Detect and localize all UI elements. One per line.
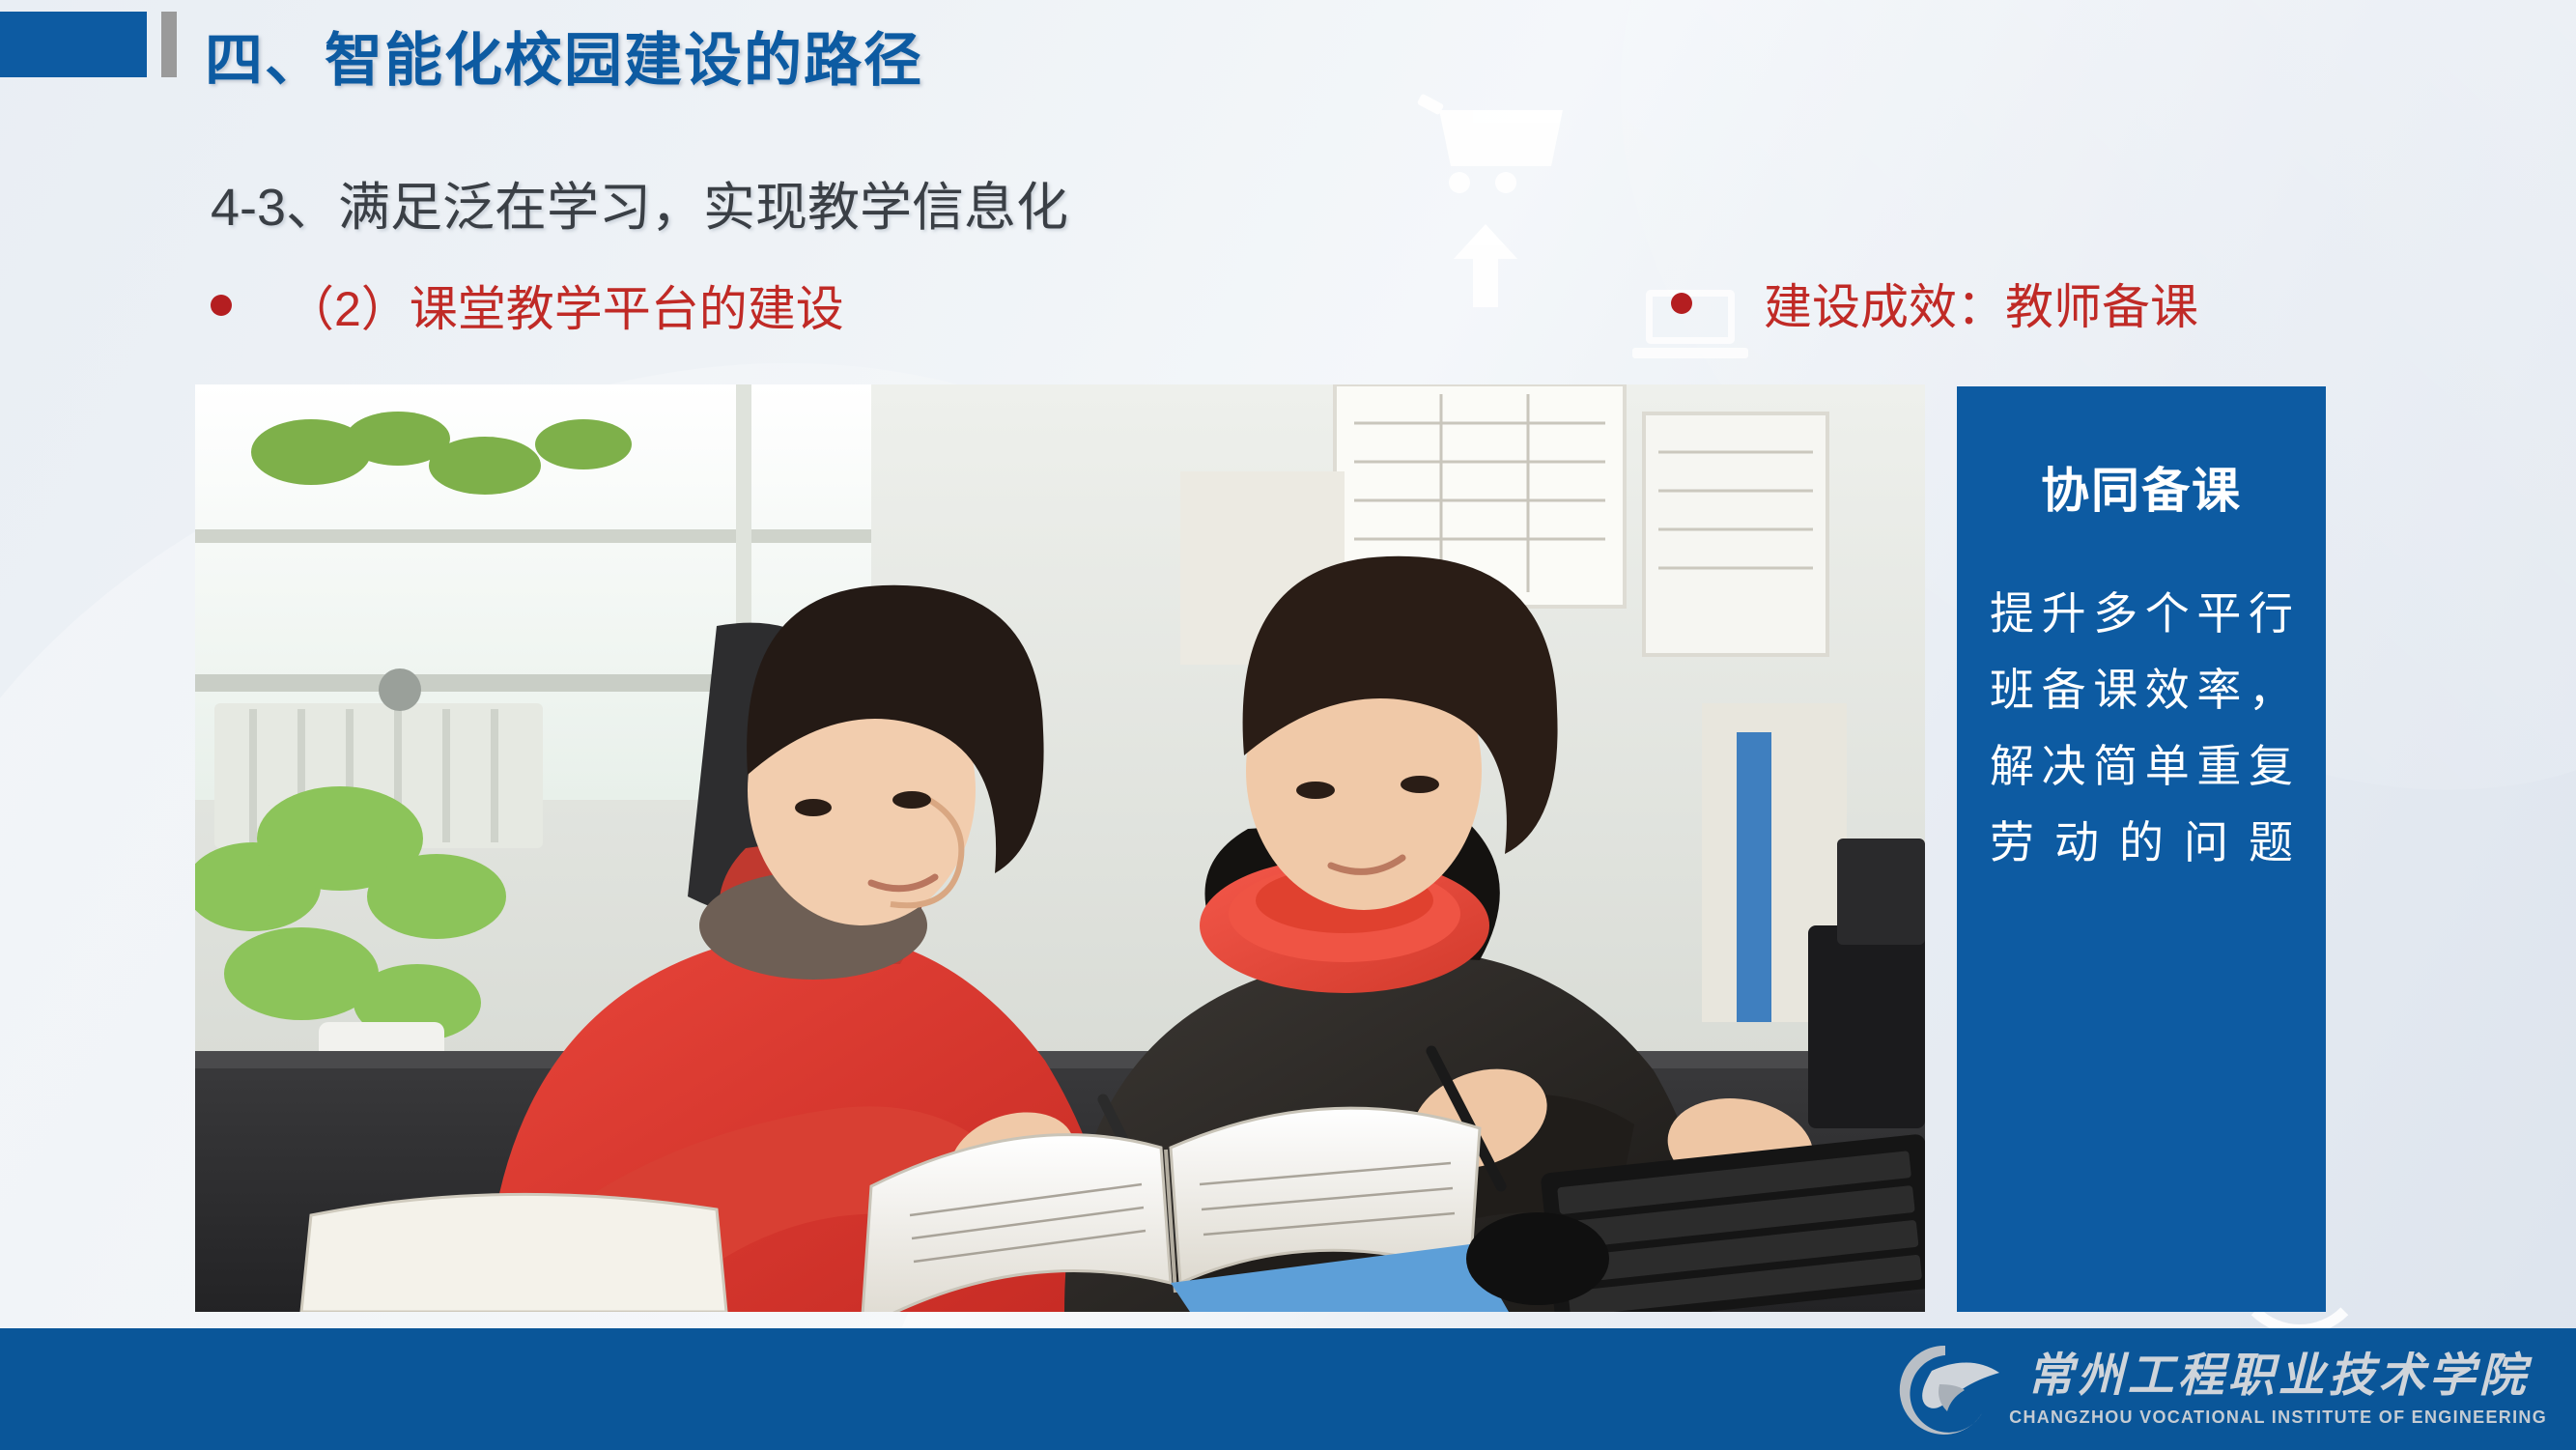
- presentation-slide: 四、智能化校园建设的路径 4-3、满足泛在学习，实现教学信息化 （2）课堂教学平…: [0, 0, 2576, 1450]
- classroom-preparation-photo: [195, 384, 1925, 1312]
- bullet-right-label: 建设成效：教师备课: [1764, 269, 2198, 338]
- title-accent-block: [0, 12, 147, 77]
- slide-footer: 常州工程职业技术学院 CHANGZHOU VOCATIONAL INSTITUT…: [0, 1328, 2576, 1450]
- university-logo: 常州工程职业技术学院 CHANGZHOU VOCATIONAL INSTITUT…: [1889, 1338, 2547, 1442]
- bullet-item-left: （2）课堂教学平台的建设: [211, 270, 844, 340]
- info-panel: 协同备课 提升多个平行班备课效率，解决简单重复劳动的问题: [1957, 386, 2326, 1312]
- title-divider-bar: [161, 12, 177, 77]
- page-title: 四、智能化校园建设的路径: [205, 14, 923, 98]
- info-panel-body: 提升多个平行班备课效率，解决简单重复劳动的问题: [1990, 576, 2293, 881]
- shopping-cart-icon: [1418, 97, 1563, 213]
- info-panel-heading: 协同备课: [1990, 452, 2293, 522]
- bullet-left-label: （2）课堂教学平台的建设: [286, 270, 844, 340]
- university-name-en: CHANGZHOU VOCATIONAL INSTITUTE OF ENGINE…: [2009, 1407, 2547, 1428]
- arrow-up-icon: [1454, 224, 1517, 307]
- page-subtitle: 4-3、满足泛在学习，实现教学信息化: [211, 164, 1068, 241]
- bullet-dot-icon: [1671, 293, 1692, 314]
- university-logo-text: 常州工程职业技术学院 CHANGZHOU VOCATIONAL INSTITUT…: [2009, 1352, 2547, 1427]
- photo-illustration: [195, 384, 1925, 1312]
- bullet-dot-icon: [211, 295, 232, 316]
- university-logo-icon: [1889, 1338, 2003, 1442]
- bullet-item-right: 建设成效：教师备课: [1671, 269, 2198, 338]
- university-name-cn: 常州工程职业技术学院: [2027, 1352, 2530, 1401]
